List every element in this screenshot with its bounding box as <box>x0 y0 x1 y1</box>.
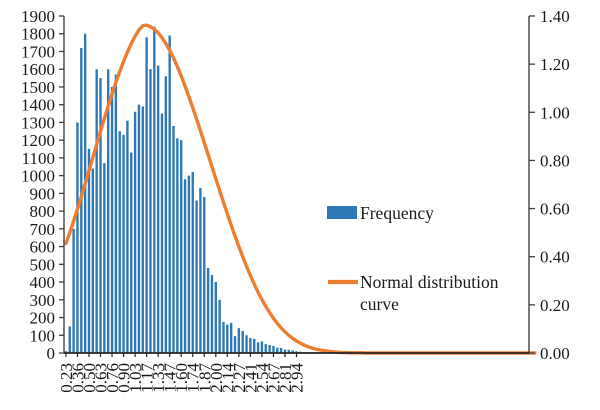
bar <box>176 138 178 353</box>
plot-area-background <box>64 16 529 353</box>
bar <box>69 326 71 353</box>
legend-label-frequency: Frequency <box>360 203 434 223</box>
bar <box>157 66 159 353</box>
right-axis-tick-label: 1.20 <box>540 55 570 74</box>
bar <box>95 69 97 353</box>
bar <box>142 106 144 353</box>
bar <box>88 149 90 353</box>
bar <box>199 188 201 353</box>
left-axis-tick-label: 1900 <box>21 7 55 26</box>
histogram-chart: 0100200300400500600700800900100011001200… <box>0 0 600 410</box>
left-axis-tick-label: 1800 <box>21 25 55 44</box>
bar <box>234 336 236 353</box>
left-axis-tick-label: 1100 <box>22 149 55 168</box>
bar <box>122 135 124 353</box>
bar <box>153 27 155 353</box>
bar <box>168 36 170 353</box>
x-axis-tick-label: 2.94 <box>288 363 307 393</box>
bar <box>203 197 205 353</box>
right-axis-tick-label: 0.80 <box>540 151 570 170</box>
left-axis-tick-label: 600 <box>30 238 56 257</box>
bar <box>211 275 213 353</box>
bar <box>253 339 255 353</box>
bar <box>238 328 240 353</box>
left-axis-tick-label: 300 <box>30 291 56 310</box>
bar <box>268 345 270 353</box>
right-axis-tick-label: 0.40 <box>540 248 570 267</box>
x-axis-tick-labels: 0.230.360.500.630.760.901.031.171.331.47… <box>57 363 307 393</box>
left-axis-tick-label: 1600 <box>21 60 55 79</box>
bar <box>84 34 86 353</box>
bar <box>165 76 167 353</box>
right-axis-tick-label: 0.20 <box>540 296 570 315</box>
right-axis-tick-label: 0.60 <box>540 200 570 219</box>
bar <box>257 342 259 353</box>
chart-canvas: 0100200300400500600700800900100011001200… <box>0 0 600 410</box>
bar <box>76 122 78 353</box>
bar <box>272 346 274 353</box>
left-axis-tick-labels: 0100200300400500600700800900100011001200… <box>21 7 55 363</box>
bar <box>184 179 186 353</box>
bar <box>207 268 209 353</box>
left-axis-tick-label: 500 <box>30 255 56 274</box>
left-axis-tick-label: 1700 <box>21 42 55 61</box>
bar <box>138 105 140 353</box>
legend-label-normal-curve-line2: curve <box>360 294 399 314</box>
right-axis-tick-labels: 0.000.200.400.600.801.001.201.40 <box>540 7 570 363</box>
bar <box>230 323 232 353</box>
bar <box>72 229 74 353</box>
bar <box>130 153 132 353</box>
bar <box>226 325 228 353</box>
bar <box>192 172 194 353</box>
bar <box>215 282 217 353</box>
bar <box>92 169 94 353</box>
bar <box>103 163 105 353</box>
bar <box>149 69 151 353</box>
bar <box>111 87 113 353</box>
bar <box>222 322 224 353</box>
bar <box>180 140 182 353</box>
left-axis-tick-label: 0 <box>47 344 56 363</box>
bar <box>126 121 128 353</box>
right-axis-tick-label: 1.40 <box>540 7 570 26</box>
bar <box>242 331 244 353</box>
bar <box>249 338 251 353</box>
bar <box>99 78 101 353</box>
bar <box>119 131 121 353</box>
left-axis-tick-label: 200 <box>30 309 56 328</box>
left-axis-tick-label: 1200 <box>21 131 55 150</box>
left-axis-tick-label: 900 <box>30 184 56 203</box>
bar <box>195 200 197 353</box>
right-axis-tick-label: 0.00 <box>540 344 570 363</box>
left-axis-tick-label: 400 <box>30 273 56 292</box>
left-axis-tick-label: 1500 <box>21 78 55 97</box>
bar <box>161 114 163 353</box>
legend-label-normal-curve: Normal distribution <box>360 272 499 292</box>
left-axis-tick-label: 700 <box>30 220 56 239</box>
bar <box>261 341 263 353</box>
bar <box>134 112 136 353</box>
bar <box>145 37 147 353</box>
bar <box>188 176 190 353</box>
bar <box>265 344 267 353</box>
legend-swatch-frequency <box>327 206 357 219</box>
right-axis-tick-label: 1.00 <box>540 103 570 122</box>
left-axis-tick-label: 1400 <box>21 96 55 115</box>
bar <box>115 75 117 353</box>
bar <box>245 335 247 353</box>
bar <box>172 126 174 353</box>
left-axis-tick-label: 800 <box>30 202 56 221</box>
left-axis-tick-label: 1300 <box>21 113 55 132</box>
left-axis-tick-label: 1000 <box>21 167 55 186</box>
left-axis-tick-label: 100 <box>30 326 56 345</box>
bar <box>218 300 220 353</box>
